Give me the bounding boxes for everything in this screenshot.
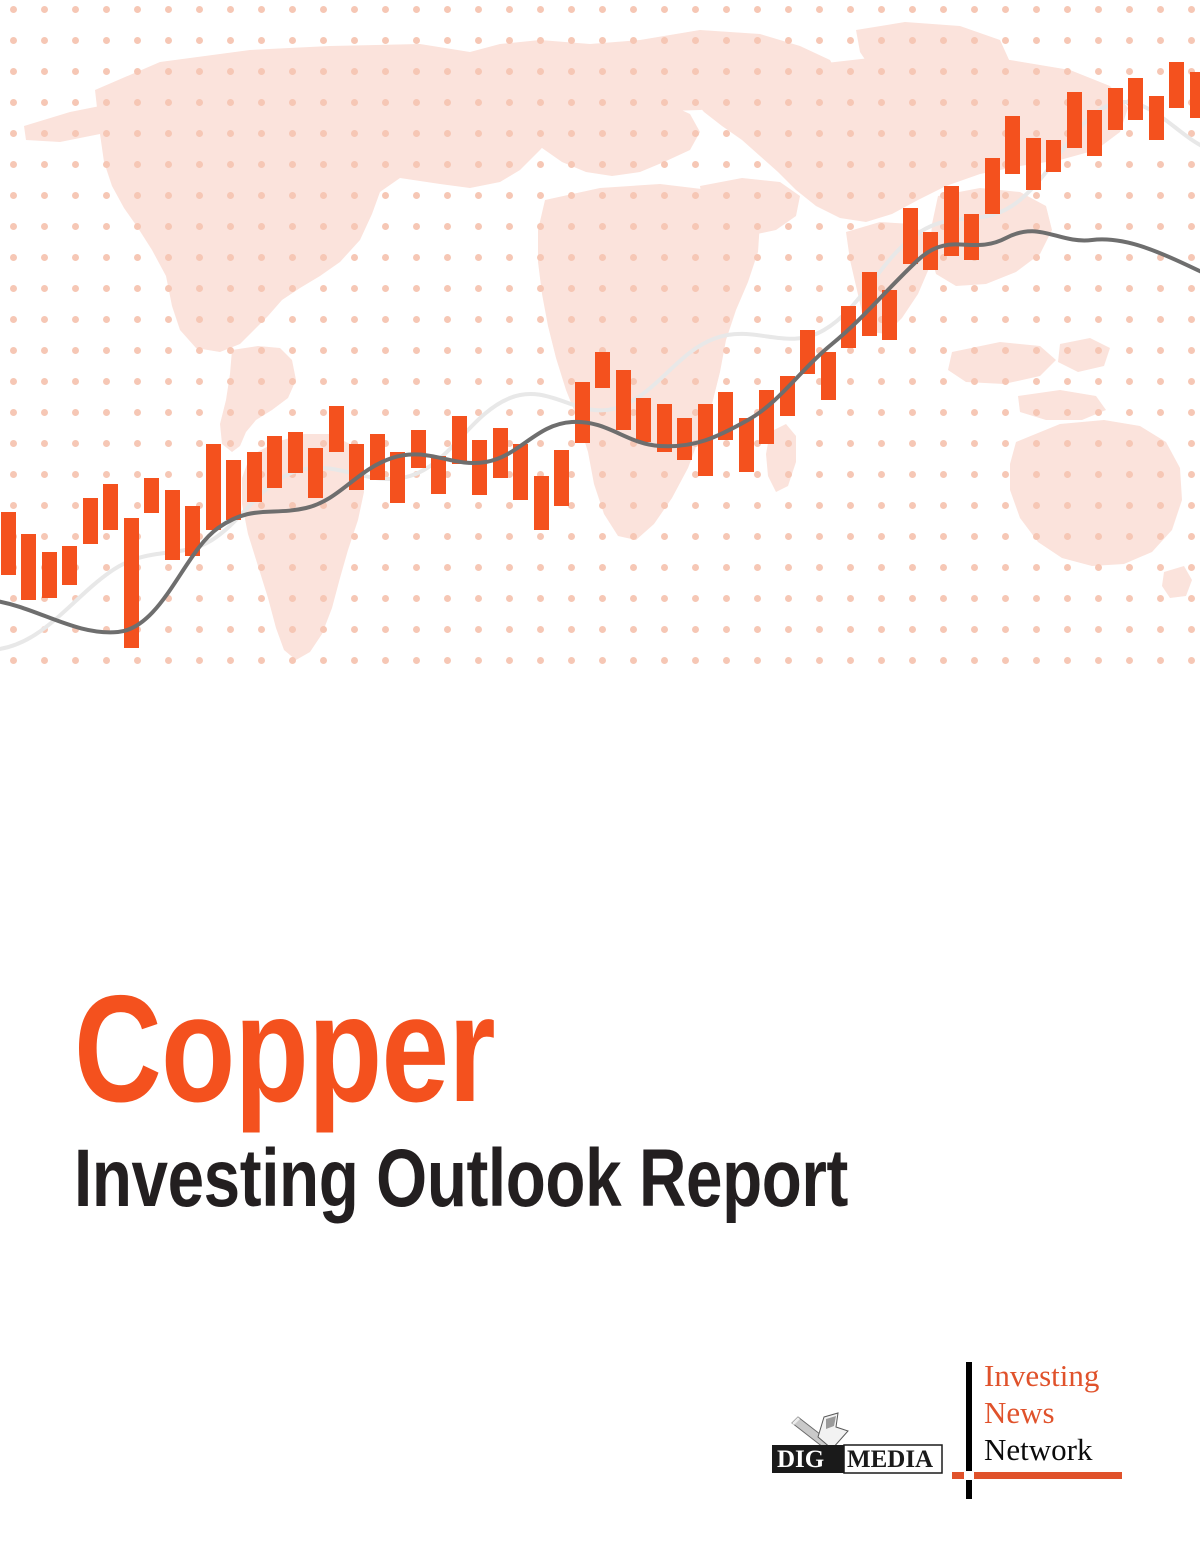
inn-wordmark: Investing News Network: [984, 1358, 1099, 1469]
inn-horizontal-rule: [952, 1472, 1122, 1479]
dig-media-logo-graphic: DIG MEDIA: [770, 1405, 945, 1480]
page-title: Copper: [74, 975, 794, 1124]
title-block: Copper Investing Outlook Report: [74, 975, 974, 1220]
inn-line-investing: Investing: [984, 1358, 1099, 1395]
inn-line-news: News: [984, 1395, 1099, 1432]
inn-line-network: Network: [984, 1432, 1099, 1469]
dig-media-dig-text: DIG: [777, 1446, 824, 1473]
dig-media-logo: DIG MEDIA: [770, 1440, 945, 1480]
page-subtitle: Investing Outlook Report: [74, 1138, 794, 1220]
hero-banner: [0, 0, 1200, 668]
dot-pattern: [0, 0, 1200, 668]
inn-rule-crossing-gap: [964, 1471, 974, 1480]
dig-media-media-text: MEDIA: [847, 1446, 933, 1473]
footer-logos: DIG MEDIA Investing News Network: [770, 1358, 1150, 1518]
hero-graphic: [0, 0, 1200, 668]
investing-news-network-logo: Investing News Network: [960, 1358, 1140, 1508]
